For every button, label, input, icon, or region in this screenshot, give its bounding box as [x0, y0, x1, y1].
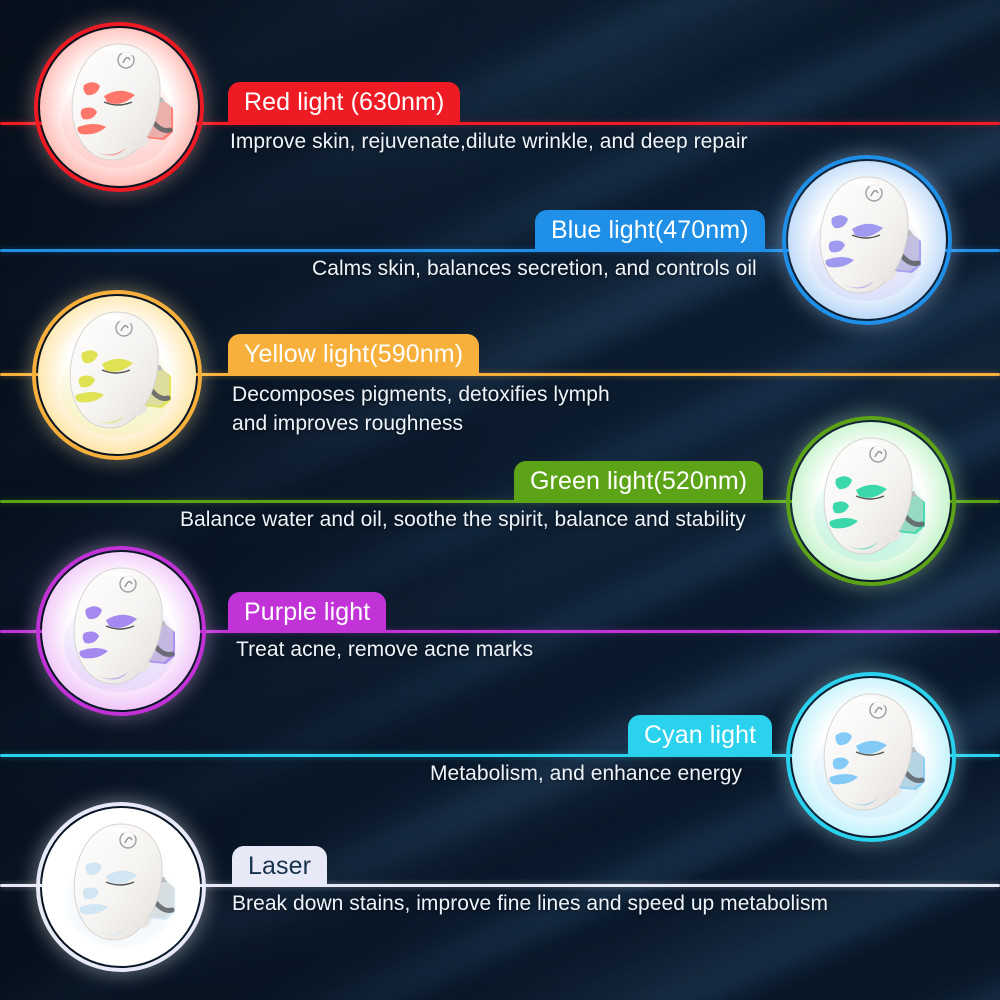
background-vignette — [0, 0, 1000, 1000]
led-mask-infographic: Red light (630nm)Improve skin, rejuvenat… — [0, 0, 1000, 1000]
